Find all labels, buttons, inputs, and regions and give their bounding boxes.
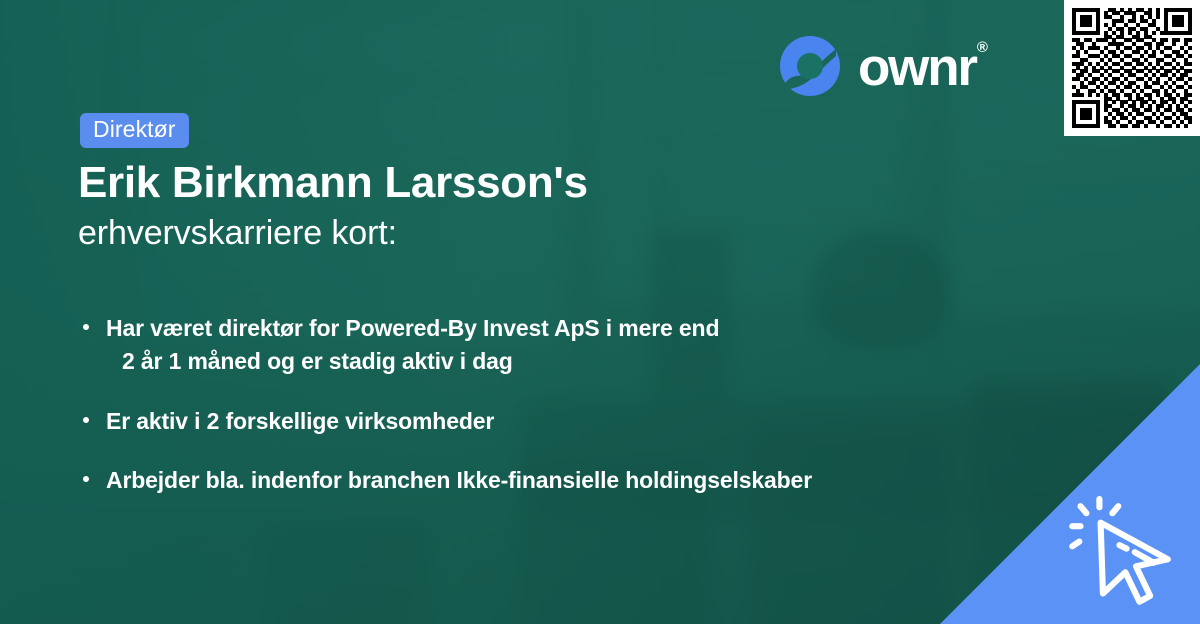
role-badge: Direktør: [80, 113, 189, 148]
highlights-list: Har været direktør for Powered-By Invest…: [82, 312, 982, 497]
ownr-circle-mark-icon: [778, 34, 842, 98]
registered-trademark-icon: ®: [977, 39, 988, 56]
career-card: Direktør Erik Birkmann Larsson's erhverv…: [0, 0, 1200, 624]
list-item: Har været direktør for Powered-By Invest…: [82, 312, 982, 379]
list-item-line1: Arbejder bla. indenfor branchen Ikke-fin…: [106, 467, 812, 493]
bullet-dot-icon: [83, 476, 89, 482]
list-item-line1: Har været direktør for Powered-By Invest…: [106, 315, 719, 341]
page-subtitle: erhvervskarriere kort:: [78, 214, 397, 253]
corner-accent: [940, 364, 1200, 624]
bullet-dot-icon: [83, 324, 89, 330]
bullet-dot-icon: [83, 417, 89, 423]
page-title: Erik Birkmann Larsson's: [78, 158, 588, 208]
click-cursor-icon: [1064, 492, 1182, 610]
ownr-wordmark: ownr®: [858, 41, 987, 94]
ownr-wordmark-text: ownr: [858, 38, 976, 97]
list-item-line1: Er aktiv i 2 forskellige virksomheder: [106, 408, 494, 434]
list-item: Er aktiv i 2 forskellige virksomheder: [82, 405, 982, 438]
list-item: Arbejder bla. indenfor branchen Ikke-fin…: [82, 464, 982, 497]
qr-code[interactable]: [1064, 0, 1200, 136]
list-item-line2: 2 år 1 måned og er stadig aktiv i dag: [106, 345, 982, 378]
ownr-logo[interactable]: ownr®: [778, 34, 987, 98]
